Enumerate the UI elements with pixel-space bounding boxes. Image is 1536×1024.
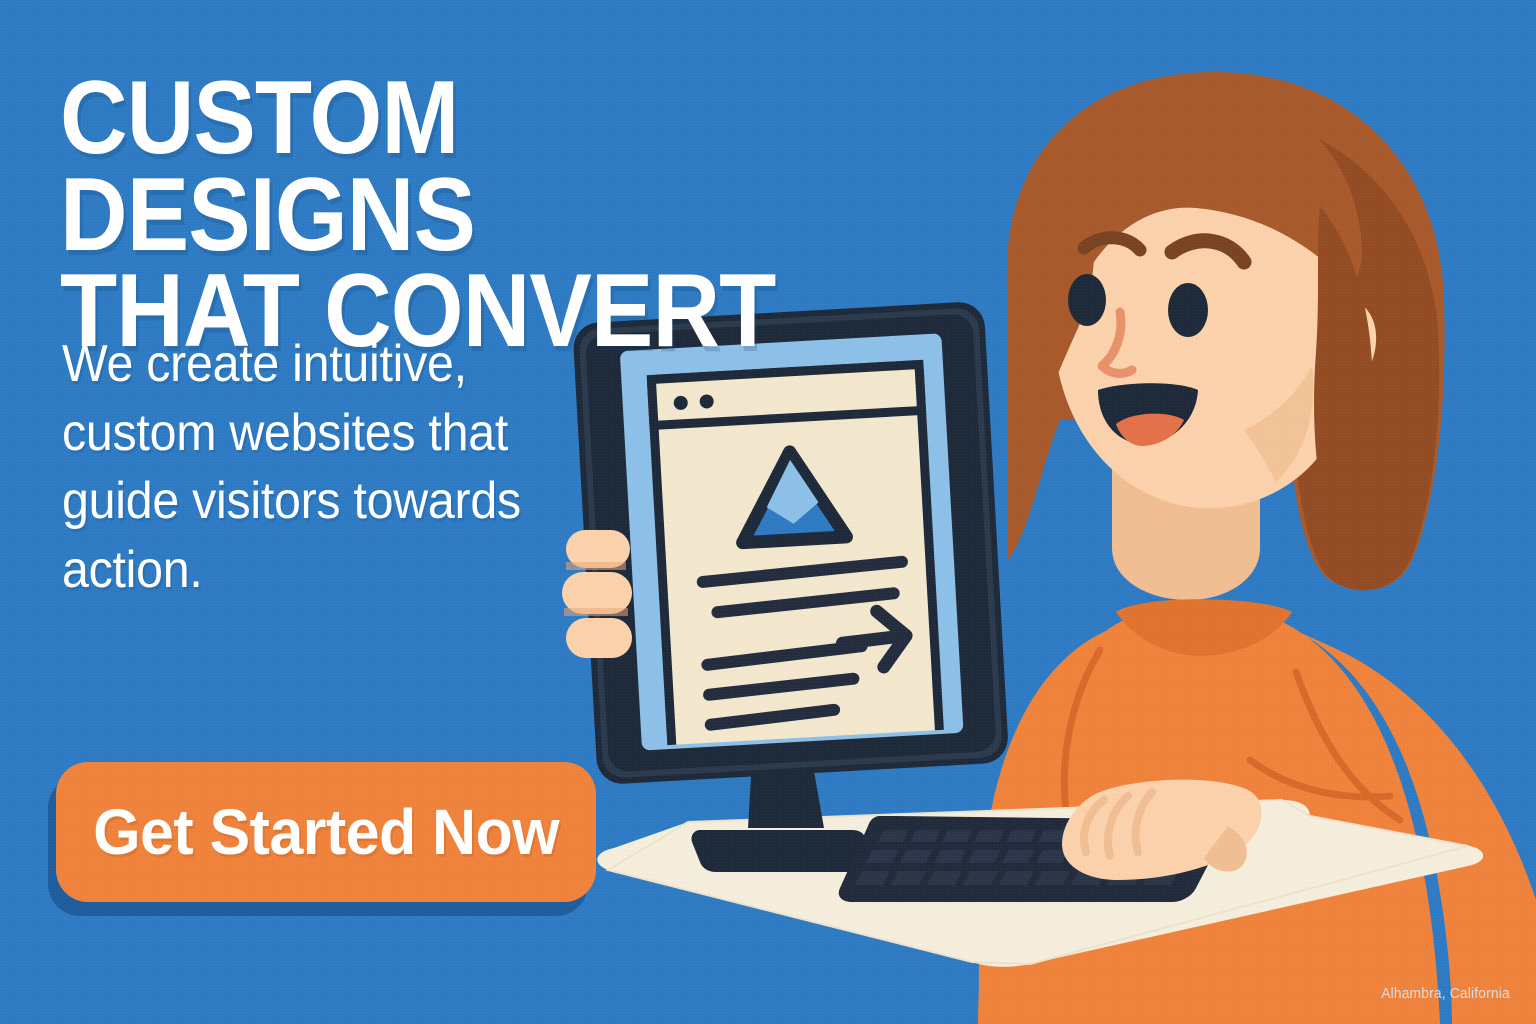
subhead-text: We create intuitive, custom websites tha… bbox=[62, 330, 583, 605]
promo-banner: CUSTOM DESIGNS THAT CONVERT We create in… bbox=[0, 0, 1536, 1024]
browser-mockup bbox=[651, 365, 941, 779]
subhead-block: We create intuitive, custom websites tha… bbox=[62, 330, 682, 605]
get-started-button[interactable]: Get Started Now bbox=[56, 762, 596, 902]
cta-container: Get Started Now bbox=[56, 762, 596, 902]
location-caption: Alhambra, California bbox=[1381, 985, 1510, 1002]
page-title: CUSTOM DESIGNS THAT CONVERT bbox=[60, 70, 870, 360]
cta-label: Get Started Now bbox=[93, 795, 559, 869]
headline-block: CUSTOM DESIGNS THAT CONVERT bbox=[60, 70, 960, 360]
